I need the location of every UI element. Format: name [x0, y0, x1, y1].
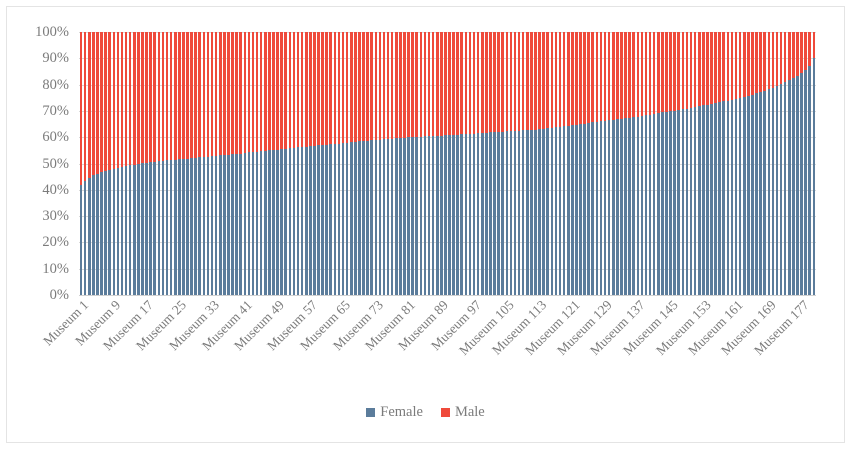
bar-segment-female[interactable]	[313, 146, 316, 295]
bar-segment-female[interactable]	[252, 152, 255, 295]
bar-segment-male[interactable]	[563, 32, 566, 126]
bar-segment-male[interactable]	[321, 32, 324, 145]
bar-segment-male[interactable]	[722, 32, 725, 101]
bar-segment-female[interactable]	[530, 130, 533, 295]
bar-segment-female[interactable]	[174, 160, 177, 295]
bar-segment-female[interactable]	[293, 148, 296, 295]
bar-segment-male[interactable]	[714, 32, 717, 103]
bar-segment-female[interactable]	[538, 129, 541, 295]
bar-segment-male[interactable]	[440, 32, 443, 136]
bar-segment-male[interactable]	[456, 32, 459, 135]
bar-segment-male[interactable]	[293, 32, 296, 148]
bar-segment-female[interactable]	[403, 138, 406, 295]
bar-segment-male[interactable]	[739, 32, 742, 98]
bar-segment-male[interactable]	[682, 32, 685, 109]
bar-segment-female[interactable]	[350, 142, 353, 295]
bar-segment-female[interactable]	[407, 137, 410, 295]
bar-segment-male[interactable]	[510, 32, 513, 131]
bar-segment-female[interactable]	[632, 117, 635, 295]
bar-segment-male[interactable]	[219, 32, 222, 155]
bar-segment-female[interactable]	[551, 128, 554, 295]
bar-segment-male[interactable]	[399, 32, 402, 138]
bar-segment-male[interactable]	[632, 32, 635, 117]
bar-segment-female[interactable]	[387, 139, 390, 295]
bar-segment-female[interactable]	[334, 144, 337, 295]
bar-segment-male[interactable]	[706, 32, 709, 105]
bar-segment-female[interactable]	[338, 144, 341, 295]
bar-segment-male[interactable]	[211, 32, 214, 156]
bar-segment-female[interactable]	[522, 130, 525, 295]
bar-segment-female[interactable]	[661, 112, 664, 295]
bar-segment-female[interactable]	[702, 105, 705, 295]
bar-segment-female[interactable]	[272, 150, 275, 295]
bar-segment-female[interactable]	[645, 115, 648, 295]
bar-segment-male[interactable]	[546, 32, 549, 128]
bar-segment-female[interactable]	[145, 163, 148, 295]
bar-segment-male[interactable]	[538, 32, 541, 129]
bar-segment-female[interactable]	[677, 110, 680, 295]
bar-segment-female[interactable]	[555, 127, 558, 295]
bar-segment-male[interactable]	[108, 32, 111, 170]
bar-segment-female[interactable]	[567, 126, 570, 295]
bar-segment-male[interactable]	[718, 32, 721, 102]
bar-segment-male[interactable]	[784, 32, 787, 82]
bar-segment-male[interactable]	[751, 32, 754, 95]
bar-segment-female[interactable]	[325, 145, 328, 295]
bar-segment-female[interactable]	[346, 143, 349, 295]
bar-segment-female[interactable]	[571, 125, 574, 295]
bar-segment-male[interactable]	[555, 32, 558, 127]
bar-segment-male[interactable]	[465, 32, 468, 134]
bar-segment-male[interactable]	[428, 32, 431, 136]
bar-segment-male[interactable]	[334, 32, 337, 144]
bar-segment-male[interactable]	[198, 32, 201, 157]
bar-segment-male[interactable]	[596, 32, 599, 122]
bar-segment-female[interactable]	[182, 159, 185, 295]
bar-segment-male[interactable]	[522, 32, 525, 130]
bar-segment-female[interactable]	[452, 135, 455, 295]
bar-segment-male[interactable]	[178, 32, 181, 159]
bar-segment-male[interactable]	[342, 32, 345, 143]
bar-segment-female[interactable]	[153, 162, 156, 295]
bar-segment-female[interactable]	[763, 91, 766, 295]
bar-segment-male[interactable]	[244, 32, 247, 153]
bar-segment-female[interactable]	[158, 161, 161, 295]
bar-segment-female[interactable]	[440, 136, 443, 295]
bar-segment-female[interactable]	[706, 105, 709, 295]
bar-segment-female[interactable]	[641, 116, 644, 295]
bar-segment-female[interactable]	[694, 107, 697, 295]
bar-segment-male[interactable]	[125, 32, 128, 166]
bar-segment-female[interactable]	[714, 103, 717, 295]
bar-segment-female[interactable]	[203, 157, 206, 295]
bar-segment-female[interactable]	[391, 139, 394, 295]
bar-segment-female[interactable]	[244, 153, 247, 295]
bar-segment-male[interactable]	[800, 32, 803, 73]
bar-segment-male[interactable]	[665, 32, 668, 112]
bar-segment-male[interactable]	[260, 32, 263, 151]
bar-segment-male[interactable]	[301, 32, 304, 147]
bar-segment-male[interactable]	[604, 32, 607, 121]
bar-segment-male[interactable]	[600, 32, 603, 121]
bar-segment-female[interactable]	[612, 120, 615, 295]
bar-segment-female[interactable]	[366, 141, 369, 295]
bar-segment-male[interactable]	[84, 32, 87, 181]
bar-segment-female[interactable]	[796, 76, 799, 295]
bar-segment-female[interactable]	[162, 161, 165, 295]
bar-segment-male[interactable]	[481, 32, 484, 133]
bar-segment-male[interactable]	[100, 32, 103, 172]
bar-segment-male[interactable]	[391, 32, 394, 139]
bar-segment-male[interactable]	[174, 32, 177, 160]
bar-segment-female[interactable]	[321, 145, 324, 295]
bar-segment-female[interactable]	[297, 147, 300, 295]
bar-segment-male[interactable]	[235, 32, 238, 154]
bar-segment-female[interactable]	[96, 174, 99, 296]
bar-segment-male[interactable]	[436, 32, 439, 136]
bar-segment-male[interactable]	[203, 32, 206, 157]
bar-segment-male[interactable]	[96, 32, 99, 173]
bar-segment-male[interactable]	[252, 32, 255, 152]
bar-segment-female[interactable]	[178, 159, 181, 295]
bar-segment-female[interactable]	[170, 160, 173, 295]
bar-segment-male[interactable]	[289, 32, 292, 148]
bar-segment-male[interactable]	[747, 32, 750, 96]
bar-segment-female[interactable]	[125, 166, 128, 295]
bar-segment-male[interactable]	[694, 32, 697, 107]
bar-segment-male[interactable]	[129, 32, 132, 165]
bar-segment-female[interactable]	[559, 127, 562, 295]
bar-segment-male[interactable]	[190, 32, 193, 158]
bar-segment-female[interactable]	[604, 121, 607, 295]
bar-segment-male[interactable]	[489, 32, 492, 132]
bar-segment-female[interactable]	[731, 100, 734, 295]
bar-segment-male[interactable]	[514, 32, 517, 131]
bar-segment-male[interactable]	[776, 32, 779, 86]
bar-segment-female[interactable]	[137, 164, 140, 295]
bar-segment-female[interactable]	[690, 108, 693, 295]
bar-segment-male[interactable]	[575, 32, 578, 125]
bar-segment-male[interactable]	[677, 32, 680, 110]
bar-segment-male[interactable]	[559, 32, 562, 127]
bar-segment-female[interactable]	[428, 136, 431, 295]
bar-segment-female[interactable]	[587, 123, 590, 295]
bar-segment-female[interactable]	[256, 152, 259, 295]
legend-item[interactable]: Female	[366, 405, 423, 420]
bar-segment-male[interactable]	[256, 32, 259, 152]
bar-segment-female[interactable]	[718, 102, 721, 295]
bar-segment-female[interactable]	[497, 132, 500, 295]
bar-segment-female[interactable]	[579, 124, 582, 295]
bar-segment-female[interactable]	[383, 139, 386, 295]
bar-segment-male[interactable]	[329, 32, 332, 144]
bar-segment-male[interactable]	[469, 32, 472, 134]
bar-segment-female[interactable]	[424, 136, 427, 295]
bar-segment-male[interactable]	[346, 32, 349, 143]
bar-segment-female[interactable]	[759, 92, 762, 295]
bar-segment-female[interactable]	[727, 101, 730, 295]
bar-segment-male[interactable]	[182, 32, 185, 159]
bar-segment-male[interactable]	[354, 32, 357, 142]
bar-segment-male[interactable]	[755, 32, 758, 93]
bar-segment-male[interactable]	[763, 32, 766, 91]
bar-segment-male[interactable]	[325, 32, 328, 145]
bar-segment-female[interactable]	[121, 167, 124, 295]
bar-segment-female[interactable]	[227, 155, 230, 295]
bar-segment-female[interactable]	[223, 155, 226, 295]
bar-segment-female[interactable]	[628, 118, 631, 295]
bar-segment-female[interactable]	[211, 156, 214, 295]
bar-segment-male[interactable]	[804, 32, 807, 70]
bar-segment-male[interactable]	[686, 32, 689, 109]
bar-segment-female[interactable]	[448, 135, 451, 295]
bar-segment-male[interactable]	[186, 32, 189, 159]
bar-segment-male[interactable]	[162, 32, 165, 161]
bar-segment-male[interactable]	[215, 32, 218, 156]
bar-segment-female[interactable]	[239, 154, 242, 295]
bar-segment-male[interactable]	[88, 32, 91, 178]
bar-segment-male[interactable]	[698, 32, 701, 106]
bar-segment-female[interactable]	[739, 98, 742, 295]
bar-segment-female[interactable]	[149, 162, 152, 295]
bar-segment-male[interactable]	[530, 32, 533, 130]
bar-segment-male[interactable]	[121, 32, 124, 167]
bar-segment-male[interactable]	[395, 32, 398, 138]
bar-segment-female[interactable]	[301, 147, 304, 295]
bar-segment-male[interactable]	[170, 32, 173, 160]
bar-segment-male[interactable]	[276, 32, 279, 150]
bar-segment-female[interactable]	[477, 133, 480, 295]
bar-segment-male[interactable]	[379, 32, 382, 140]
bar-segment-female[interactable]	[113, 169, 116, 296]
bar-segment-female[interactable]	[747, 96, 750, 295]
bar-segment-male[interactable]	[223, 32, 226, 155]
bar-segment-female[interactable]	[248, 152, 251, 295]
bar-segment-female[interactable]	[317, 145, 320, 295]
bar-segment-male[interactable]	[477, 32, 480, 133]
bar-segment-female[interactable]	[682, 109, 685, 295]
bar-segment-male[interactable]	[620, 32, 623, 119]
bar-segment-male[interactable]	[272, 32, 275, 150]
bar-segment-female[interactable]	[399, 138, 402, 295]
bar-segment-female[interactable]	[415, 137, 418, 295]
bar-segment-male[interactable]	[104, 32, 107, 171]
bar-segment-male[interactable]	[616, 32, 619, 119]
bar-segment-female[interactable]	[514, 131, 517, 295]
bar-segment-female[interactable]	[722, 101, 725, 295]
bar-segment-female[interactable]	[542, 129, 545, 295]
bar-segment-female[interactable]	[489, 132, 492, 295]
bar-segment-male[interactable]	[727, 32, 730, 101]
bar-segment-male[interactable]	[207, 32, 210, 157]
bar-segment-female[interactable]	[780, 84, 783, 295]
bar-segment-female[interactable]	[219, 155, 222, 295]
bar-segment-male[interactable]	[608, 32, 611, 120]
bar-segment-female[interactable]	[649, 115, 652, 295]
bar-segment-female[interactable]	[596, 122, 599, 295]
bar-segment-male[interactable]	[579, 32, 582, 124]
bar-segment-female[interactable]	[100, 172, 103, 295]
bar-segment-female[interactable]	[432, 136, 435, 295]
bar-segment-male[interactable]	[796, 32, 799, 76]
bar-segment-male[interactable]	[473, 32, 476, 134]
bar-segment-male[interactable]	[113, 32, 116, 168]
bar-segment-female[interactable]	[456, 135, 459, 295]
bar-segment-female[interactable]	[104, 171, 107, 295]
bar-segment-female[interactable]	[444, 135, 447, 295]
bar-segment-female[interactable]	[235, 154, 238, 295]
bar-segment-female[interactable]	[485, 133, 488, 295]
bar-segment-male[interactable]	[612, 32, 615, 120]
bar-segment-female[interactable]	[129, 165, 132, 295]
bar-segment-male[interactable]	[506, 32, 509, 131]
bar-segment-male[interactable]	[661, 32, 664, 112]
bar-segment-female[interactable]	[276, 150, 279, 295]
bar-segment-male[interactable]	[624, 32, 627, 118]
bar-segment-male[interactable]	[587, 32, 590, 123]
bar-segment-male[interactable]	[571, 32, 574, 125]
bar-segment-male[interactable]	[284, 32, 287, 149]
bar-segment-female[interactable]	[673, 111, 676, 295]
bar-segment-male[interactable]	[542, 32, 545, 129]
bar-segment-female[interactable]	[117, 168, 120, 295]
bar-segment-male[interactable]	[690, 32, 693, 108]
bar-segment-male[interactable]	[808, 32, 811, 66]
bar-segment-female[interactable]	[465, 134, 468, 295]
bar-segment-female[interactable]	[309, 146, 312, 295]
bar-segment-male[interactable]	[567, 32, 570, 126]
bar-segment-female[interactable]	[800, 73, 803, 295]
bar-segment-female[interactable]	[653, 114, 656, 295]
bar-segment-female[interactable]	[526, 130, 529, 295]
bar-segment-male[interactable]	[317, 32, 320, 145]
bar-segment-male[interactable]	[637, 32, 640, 117]
bar-segment-male[interactable]	[350, 32, 353, 142]
bar-segment-male[interactable]	[645, 32, 648, 115]
bar-segment-male[interactable]	[133, 32, 136, 165]
bar-segment-female[interactable]	[501, 132, 504, 295]
bar-segment-male[interactable]	[264, 32, 267, 151]
bar-segment-male[interactable]	[375, 32, 378, 140]
bar-segment-female[interactable]	[289, 148, 292, 295]
bar-segment-male[interactable]	[80, 32, 83, 185]
bar-segment-male[interactable]	[280, 32, 283, 149]
bar-segment-female[interactable]	[784, 82, 787, 295]
bar-segment-male[interactable]	[137, 32, 140, 164]
bar-segment-male[interactable]	[166, 32, 169, 160]
bar-segment-female[interactable]	[268, 150, 271, 295]
bar-segment-male[interactable]	[444, 32, 447, 135]
bar-segment-male[interactable]	[649, 32, 652, 115]
bar-segment-male[interactable]	[743, 32, 746, 97]
bar-segment-female[interactable]	[190, 158, 193, 295]
bar-segment-female[interactable]	[743, 97, 746, 295]
bar-segment-female[interactable]	[591, 122, 594, 295]
bar-segment-female[interactable]	[329, 144, 332, 295]
bar-segment-female[interactable]	[768, 89, 771, 295]
bar-segment-male[interactable]	[591, 32, 594, 122]
bar-segment-female[interactable]	[808, 66, 811, 295]
bar-segment-female[interactable]	[473, 134, 476, 295]
bar-segment-female[interactable]	[186, 159, 189, 295]
bar-segment-male[interactable]	[117, 32, 120, 168]
bar-segment-male[interactable]	[149, 32, 152, 162]
bar-segment-female[interactable]	[80, 185, 83, 295]
bar-segment-male[interactable]	[788, 32, 791, 80]
bar-segment-male[interactable]	[772, 32, 775, 87]
bar-segment-female[interactable]	[804, 70, 807, 295]
bar-segment-male[interactable]	[768, 32, 771, 89]
bar-segment-male[interactable]	[641, 32, 644, 116]
bar-segment-female[interactable]	[194, 158, 197, 295]
bar-segment-female[interactable]	[215, 156, 218, 295]
bar-segment-male[interactable]	[485, 32, 488, 133]
bar-segment-male[interactable]	[735, 32, 738, 99]
bar-segment-male[interactable]	[653, 32, 656, 114]
bar-segment-male[interactable]	[411, 32, 414, 137]
bar-segment-female[interactable]	[166, 160, 169, 295]
bar-segment-female[interactable]	[92, 175, 95, 295]
bar-segment-female[interactable]	[305, 147, 308, 295]
bar-segment-female[interactable]	[375, 140, 378, 295]
bar-segment-female[interactable]	[563, 126, 566, 295]
bar-segment-female[interactable]	[141, 163, 144, 295]
bar-segment-male[interactable]	[305, 32, 308, 147]
bar-segment-female[interactable]	[460, 134, 463, 295]
bar-segment-male[interactable]	[583, 32, 586, 124]
bar-segment-female[interactable]	[395, 138, 398, 295]
bar-segment-female[interactable]	[624, 118, 627, 295]
bar-segment-female[interactable]	[792, 78, 795, 295]
bar-segment-female[interactable]	[710, 104, 713, 295]
bar-segment-male[interactable]	[518, 32, 521, 131]
bar-segment-female[interactable]	[506, 131, 509, 295]
bar-segment-male[interactable]	[362, 32, 365, 141]
bar-segment-male[interactable]	[268, 32, 271, 150]
bar-segment-female[interactable]	[284, 149, 287, 295]
bar-segment-female[interactable]	[686, 109, 689, 295]
bar-segment-male[interactable]	[358, 32, 361, 141]
bar-segment-male[interactable]	[534, 32, 537, 130]
bar-segment-female[interactable]	[657, 113, 660, 295]
bar-segment-female[interactable]	[260, 151, 263, 295]
bar-segment-female[interactable]	[379, 140, 382, 295]
bar-segment-female[interactable]	[665, 112, 668, 295]
bar-segment-female[interactable]	[735, 99, 738, 295]
bar-segment-male[interactable]	[387, 32, 390, 139]
bar-segment-female[interactable]	[776, 86, 779, 295]
bar-segment-female[interactable]	[518, 131, 521, 295]
bar-segment-female[interactable]	[370, 140, 373, 295]
bar-segment-male[interactable]	[792, 32, 795, 78]
bar-segment-male[interactable]	[158, 32, 161, 161]
bar-segment-female[interactable]	[481, 133, 484, 295]
bar-segment-male[interactable]	[673, 32, 676, 111]
bar-segment-female[interactable]	[813, 58, 816, 295]
bar-segment-male[interactable]	[452, 32, 455, 135]
bar-segment-male[interactable]	[153, 32, 156, 162]
bar-segment-male[interactable]	[227, 32, 230, 155]
bar-segment-male[interactable]	[710, 32, 713, 104]
bar-segment-male[interactable]	[194, 32, 197, 158]
bar-segment-male[interactable]	[309, 32, 312, 146]
bar-segment-male[interactable]	[239, 32, 242, 154]
bar-segment-male[interactable]	[526, 32, 529, 130]
bar-segment-female[interactable]	[620, 119, 623, 295]
bar-segment-male[interactable]	[145, 32, 148, 163]
bar-segment-male[interactable]	[759, 32, 762, 92]
bar-segment-male[interactable]	[702, 32, 705, 105]
